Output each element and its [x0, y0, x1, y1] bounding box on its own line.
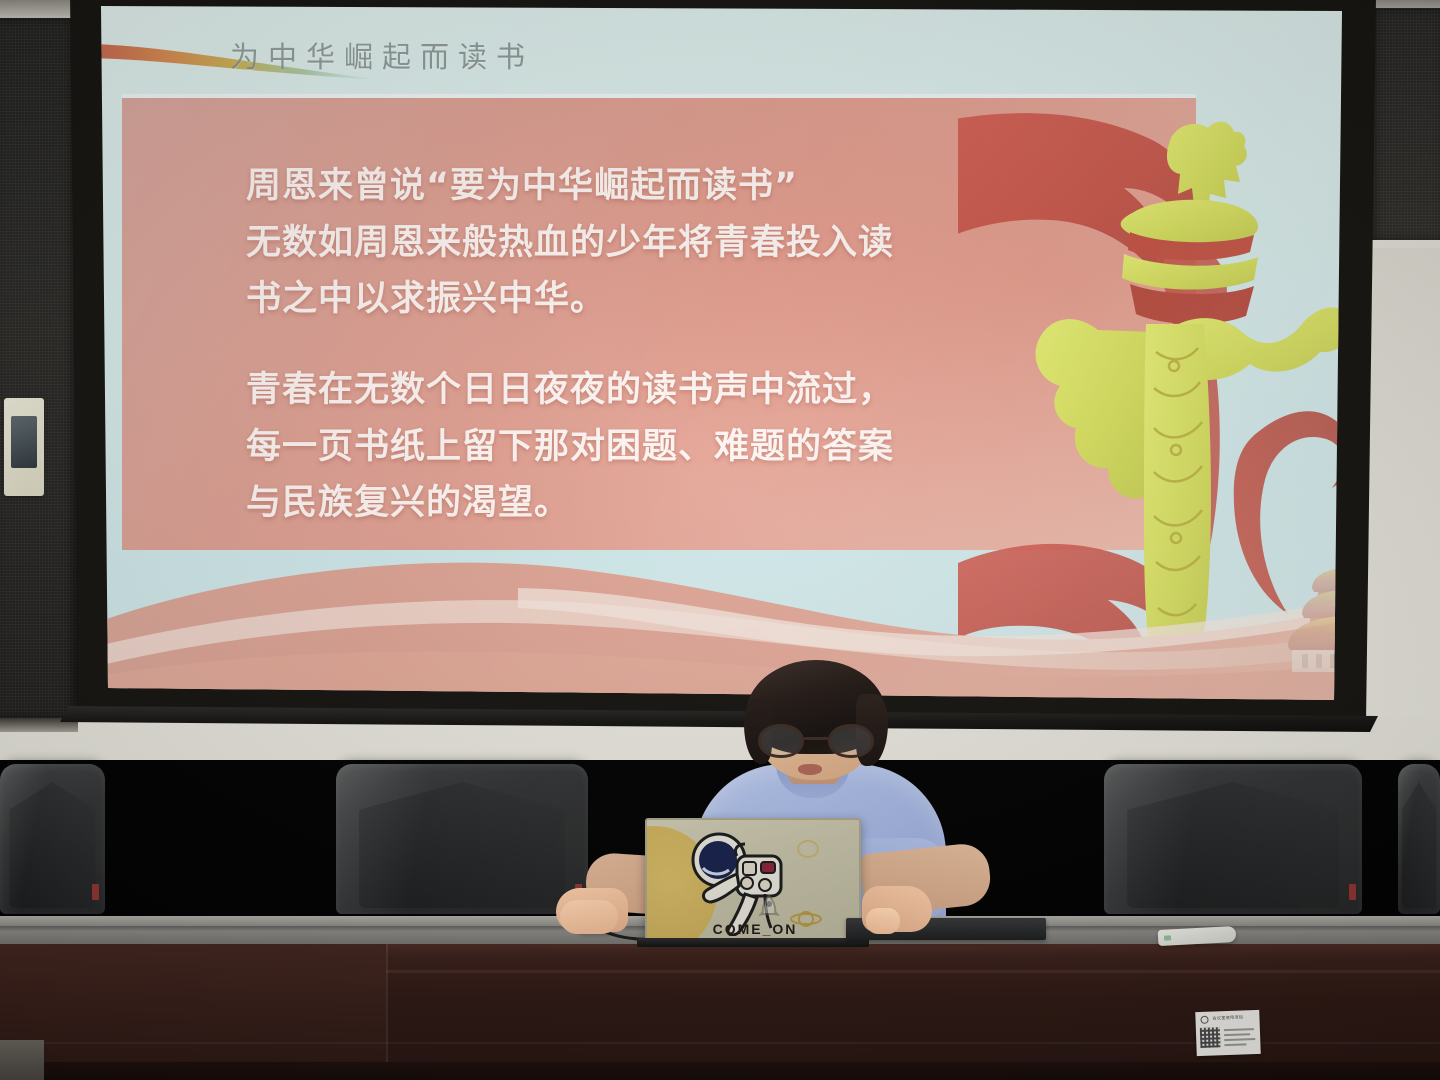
wall-control-panel-screen [11, 416, 37, 468]
chair-tag [92, 884, 99, 900]
eyeglass-bridge [804, 737, 828, 740]
qr-label-title: 会议室使用须知 [1212, 1014, 1243, 1021]
chair-backrest [1398, 764, 1440, 914]
slide-paragraph-2: 青春在无数个日日夜夜的读书声中流过， 每一页书纸上留下那对困题、难题的答案 与民… [246, 362, 1036, 532]
chair-right[interactable] [1104, 764, 1362, 914]
laptop-base [637, 938, 869, 947]
person-hand-left-fingers [560, 900, 618, 934]
person-hand-right-fingers [866, 908, 900, 934]
acoustic-panel-right [1368, 8, 1440, 240]
acoustic-panel-left [0, 18, 78, 718]
chair-far-right[interactable] [1398, 764, 1440, 914]
presenter-remote-led [1164, 935, 1171, 940]
wall-control-panel[interactable] [4, 398, 44, 496]
laptop[interactable]: COME_ON [645, 818, 861, 942]
chair-backrest [336, 764, 588, 914]
wall-section-right [1364, 248, 1440, 718]
eyeglass-lens-right [828, 724, 874, 758]
slide-body-text: 周恩来曾说“要为中华崛起而读书” 无数如周恩来般热血的少年将青春投入读 书之中以… [246, 158, 1036, 532]
chair-backrest [1104, 764, 1362, 914]
qr-label-line [1224, 1038, 1255, 1041]
qr-label-line [1224, 1033, 1250, 1036]
chair-tag [1349, 884, 1356, 900]
floor-shadow [0, 1062, 1440, 1080]
chair-left[interactable] [336, 764, 588, 914]
floor-left-corner [0, 1040, 44, 1080]
small-planet-sticker-icon [797, 840, 819, 858]
qr-label-line [1224, 1028, 1254, 1031]
slide-panel-top-rule [122, 94, 1196, 98]
qr-code-icon [1200, 1027, 1221, 1048]
laptop-lid: COME_ON [645, 818, 861, 942]
qr-code-label: 会议室使用须知 [1195, 1010, 1260, 1056]
temple-of-heaven-icon [1258, 554, 1342, 684]
table-panel-seam [386, 944, 388, 1080]
person-mouth [798, 764, 822, 775]
presentation-slide: 为中华崛起而读书 周恩来曾说“要为中华崛起而读书” 无数如周恩来般热血的少年将青… [98, 6, 1342, 706]
laptop-sticker-text: COME_ON [647, 921, 861, 937]
chair-backrest [0, 764, 105, 914]
label-logo-icon [1200, 1016, 1208, 1024]
round-eyeglasses-icon [758, 724, 876, 758]
projection-screen: 为中华崛起而读书 周恩来曾说“要为中华崛起而读书” 无数如周恩来般热血的少年将青… [98, 6, 1342, 706]
slide-paragraph-1: 周恩来曾说“要为中华崛起而读书” 无数如周恩来般热血的少年将青春投入读 书之中以… [246, 158, 1036, 328]
eyeglass-lens-left [758, 724, 804, 758]
conference-table-front-panel-left [0, 944, 386, 1080]
slide-header-title: 为中华崛起而读书 [230, 34, 534, 76]
conference-room-photo: 为中华崛起而读书 周恩来曾说“要为中华崛起而读书” 无数如周恩来般热血的少年将青… [0, 0, 1440, 1080]
qr-label-line [1224, 1043, 1246, 1046]
chair-far-left[interactable] [0, 764, 105, 914]
rocket-sticker-icon [755, 894, 783, 920]
